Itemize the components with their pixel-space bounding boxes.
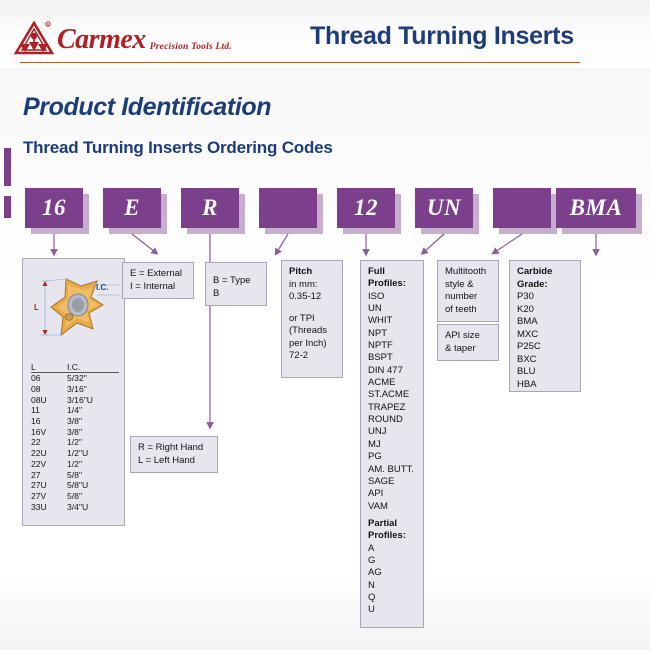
profile-item: Q bbox=[368, 592, 416, 604]
profile-item: VAM bbox=[368, 501, 416, 513]
cell-L: 08U bbox=[31, 394, 67, 405]
cell-IC: 3/8" bbox=[67, 426, 119, 437]
type-b-box: B = Type B bbox=[205, 262, 267, 306]
table-row: 27U5/8"U bbox=[31, 480, 119, 491]
full-profiles-title-2: Profiles: bbox=[368, 278, 416, 290]
cell-IC: 5/8" bbox=[67, 491, 119, 502]
profile-item: A bbox=[368, 543, 416, 555]
table-row: 33U3/4"U bbox=[31, 501, 119, 512]
cell-L: 11 bbox=[31, 405, 67, 416]
code-box-label: E bbox=[124, 195, 140, 221]
profile-item: MJ bbox=[368, 439, 416, 451]
code-box-multitooth[interactable] bbox=[493, 188, 551, 228]
cell-L: 22V bbox=[31, 459, 67, 470]
cell-L: 16V bbox=[31, 426, 67, 437]
pitch-tpi-note1: (Threads bbox=[289, 325, 335, 338]
grade-item: MXC bbox=[517, 329, 573, 342]
code-box-label: R bbox=[202, 195, 218, 221]
column-header-L: L bbox=[31, 362, 67, 373]
grade-item: BMA bbox=[517, 316, 573, 329]
code-box-ext-int[interactable]: E bbox=[103, 188, 161, 228]
carmex-triangle-logo-icon: R bbox=[14, 21, 54, 55]
cell-IC: 5/8" bbox=[67, 469, 119, 480]
accent-bar-top bbox=[4, 148, 11, 186]
table-row: 065/32" bbox=[31, 373, 119, 384]
code-box-label: BMA bbox=[570, 195, 623, 221]
api-line-1: API size bbox=[445, 330, 491, 343]
cell-IC: 3/4"U bbox=[67, 501, 119, 512]
page-header: R Carmex Precision Tools Ltd. Thread Tur… bbox=[0, 0, 650, 68]
right-hand-label: R = Right Hand bbox=[138, 442, 210, 455]
profiles-box: Full Profiles: ISOUNWHITNPTNPTFBSPTDIN 4… bbox=[360, 260, 424, 628]
cell-IC: 3/16"U bbox=[67, 394, 119, 405]
insert-figure: L I.C. bbox=[23, 259, 124, 359]
api-size-box: API size & taper bbox=[437, 324, 499, 361]
profile-item: G bbox=[368, 555, 416, 567]
api-line-2: & taper bbox=[445, 343, 491, 356]
carbide-grade-list: P30K20BMAMXCP25CBXCBLUHBA bbox=[517, 291, 573, 391]
cell-IC: 1/2" bbox=[67, 437, 119, 448]
table-header-row: L I.C. bbox=[31, 362, 119, 373]
cell-L: 16 bbox=[31, 416, 67, 427]
partial-profiles-list: AGAGNQU bbox=[368, 543, 416, 617]
code-box-label: 16 bbox=[42, 195, 66, 221]
profile-item: SAGE bbox=[368, 476, 416, 488]
brand-name: Carmex bbox=[57, 26, 146, 54]
cell-IC: 3/8" bbox=[67, 416, 119, 427]
cell-IC: 1/2" bbox=[67, 459, 119, 470]
cell-IC: 3/16" bbox=[67, 384, 119, 395]
table-row: 275/8" bbox=[31, 469, 119, 480]
cell-L: 33U bbox=[31, 501, 67, 512]
profile-item: TRAPEZ bbox=[368, 402, 416, 414]
brand-tagline: Precision Tools Ltd. bbox=[150, 42, 232, 52]
cell-L: 22 bbox=[31, 437, 67, 448]
cell-L: 06 bbox=[31, 373, 67, 384]
figure-label-L: L bbox=[34, 303, 39, 312]
pitch-range: 0.35-12 bbox=[289, 291, 335, 304]
figure-label-IC: I.C. bbox=[96, 283, 108, 292]
section-title: Product Identification bbox=[23, 93, 271, 122]
grade-item: BLU bbox=[517, 366, 573, 379]
table-row: 083/16" bbox=[31, 384, 119, 395]
multitooth-line-3: number bbox=[445, 291, 491, 304]
profile-item: ROUND bbox=[368, 414, 416, 426]
carbide-title-2: Grade: bbox=[517, 279, 573, 292]
profile-item: ST.ACME bbox=[368, 389, 416, 401]
profile-item: ISO bbox=[368, 291, 416, 303]
cell-L: 22U bbox=[31, 448, 67, 459]
pitch-unit: in mm: bbox=[289, 279, 335, 292]
code-box-pitch[interactable]: 12 bbox=[337, 188, 395, 228]
type-b-label: B = Type B bbox=[213, 275, 259, 300]
pitch-title: Pitch bbox=[289, 266, 335, 279]
table-row: 27V5/8" bbox=[31, 491, 119, 502]
multitooth-line-4: of teeth bbox=[445, 304, 491, 317]
cell-L: 27V bbox=[31, 491, 67, 502]
code-box-label: UN bbox=[427, 195, 461, 221]
table-row: 22U1/2"U bbox=[31, 448, 119, 459]
code-box-label: 12 bbox=[354, 195, 378, 221]
header-divider bbox=[20, 62, 580, 63]
left-hand-label: L = Left Hand bbox=[138, 455, 210, 468]
partial-profiles-title-1: Partial bbox=[368, 518, 416, 530]
internal-label: I = Internal bbox=[130, 281, 186, 294]
profile-item: NPTF bbox=[368, 340, 416, 352]
cell-IC: 1/2"U bbox=[67, 448, 119, 459]
cell-IC: 1/4" bbox=[67, 405, 119, 416]
grade-item: K20 bbox=[517, 304, 573, 317]
profile-item: UN bbox=[368, 303, 416, 315]
code-box-hand[interactable]: R bbox=[181, 188, 239, 228]
profile-item: U bbox=[368, 604, 416, 616]
cell-L: 08 bbox=[31, 384, 67, 395]
full-profiles-list: ISOUNWHITNPTNPTFBSPTDIN 477ACMEST.ACMETR… bbox=[368, 291, 416, 513]
profile-item: BSPT bbox=[368, 352, 416, 364]
profile-item: ACME bbox=[368, 377, 416, 389]
profile-item: DIN 477 bbox=[368, 365, 416, 377]
grade-item: P30 bbox=[517, 291, 573, 304]
table-row: 111/4" bbox=[31, 405, 119, 416]
profile-item: AG bbox=[368, 567, 416, 579]
cell-IC: 5/8"U bbox=[67, 480, 119, 491]
profile-item: API bbox=[368, 488, 416, 500]
multitooth-line-1: Multitooth bbox=[445, 266, 491, 279]
full-profiles-title-1: Full bbox=[368, 266, 416, 278]
grade-item: HBA bbox=[517, 379, 573, 392]
cell-IC: 5/32" bbox=[67, 373, 119, 384]
pitch-tpi-note2: per Inch) bbox=[289, 338, 335, 351]
accent-bar-bottom bbox=[4, 196, 11, 218]
page-title: Thread Turning Inserts bbox=[310, 22, 574, 51]
partial-profiles-title-2: Profiles: bbox=[368, 530, 416, 542]
table-row: 221/2" bbox=[31, 437, 119, 448]
multitooth-line-2: style & bbox=[445, 279, 491, 292]
column-header-IC: I.C. bbox=[67, 362, 119, 373]
multitooth-box: Multitooth style & number of teeth bbox=[437, 260, 499, 322]
table-row: 16V3/8" bbox=[31, 426, 119, 437]
code-box-profile[interactable]: UN bbox=[415, 188, 473, 228]
table-row: 163/8" bbox=[31, 416, 119, 427]
carmex-logo: R Carmex Precision Tools Ltd. bbox=[14, 21, 232, 55]
profile-item: AM. BUTT. bbox=[368, 464, 416, 476]
profile-item: WHIT bbox=[368, 315, 416, 327]
external-internal-box: E = External I = Internal bbox=[122, 262, 194, 299]
code-box-type[interactable] bbox=[259, 188, 317, 228]
product-identification-page: R Carmex Precision Tools Ltd. Thread Tur… bbox=[0, 0, 650, 650]
code-box-size[interactable]: 16 bbox=[25, 188, 83, 228]
external-label: E = External bbox=[130, 268, 186, 281]
pitch-box: Pitch in mm: 0.35-12 or TPI (Threads per… bbox=[281, 260, 343, 378]
profile-item: PG bbox=[368, 451, 416, 463]
table-row: 08U3/16"U bbox=[31, 394, 119, 405]
grade-item: BXC bbox=[517, 354, 573, 367]
insert-size-panel: L I.C. L I.C. 065/32"083/16"08U3/16"U111… bbox=[22, 258, 125, 526]
cell-L: 27 bbox=[31, 469, 67, 480]
subsection-title: Thread Turning Inserts Ordering Codes bbox=[23, 138, 333, 158]
hand-direction-box: R = Right Hand L = Left Hand bbox=[130, 436, 218, 473]
profile-item: N bbox=[368, 580, 416, 592]
size-table: L I.C. 065/32"083/16"08U3/16"U111/4"163/… bbox=[31, 362, 119, 512]
table-row: 22V1/2" bbox=[31, 459, 119, 470]
grade-item: P25C bbox=[517, 341, 573, 354]
pitch-tpi-range: 72-2 bbox=[289, 350, 335, 363]
profile-item: NPT bbox=[368, 328, 416, 340]
carbide-title-1: Carbide bbox=[517, 266, 573, 279]
code-box-grade[interactable]: BMA bbox=[556, 188, 636, 228]
pitch-tpi-label: or TPI bbox=[289, 313, 335, 326]
carbide-grade-box: Carbide Grade: P30K20BMAMXCP25CBXCBLUHBA bbox=[509, 260, 581, 392]
cell-L: 27U bbox=[31, 480, 67, 491]
profile-item: UNJ bbox=[368, 426, 416, 438]
